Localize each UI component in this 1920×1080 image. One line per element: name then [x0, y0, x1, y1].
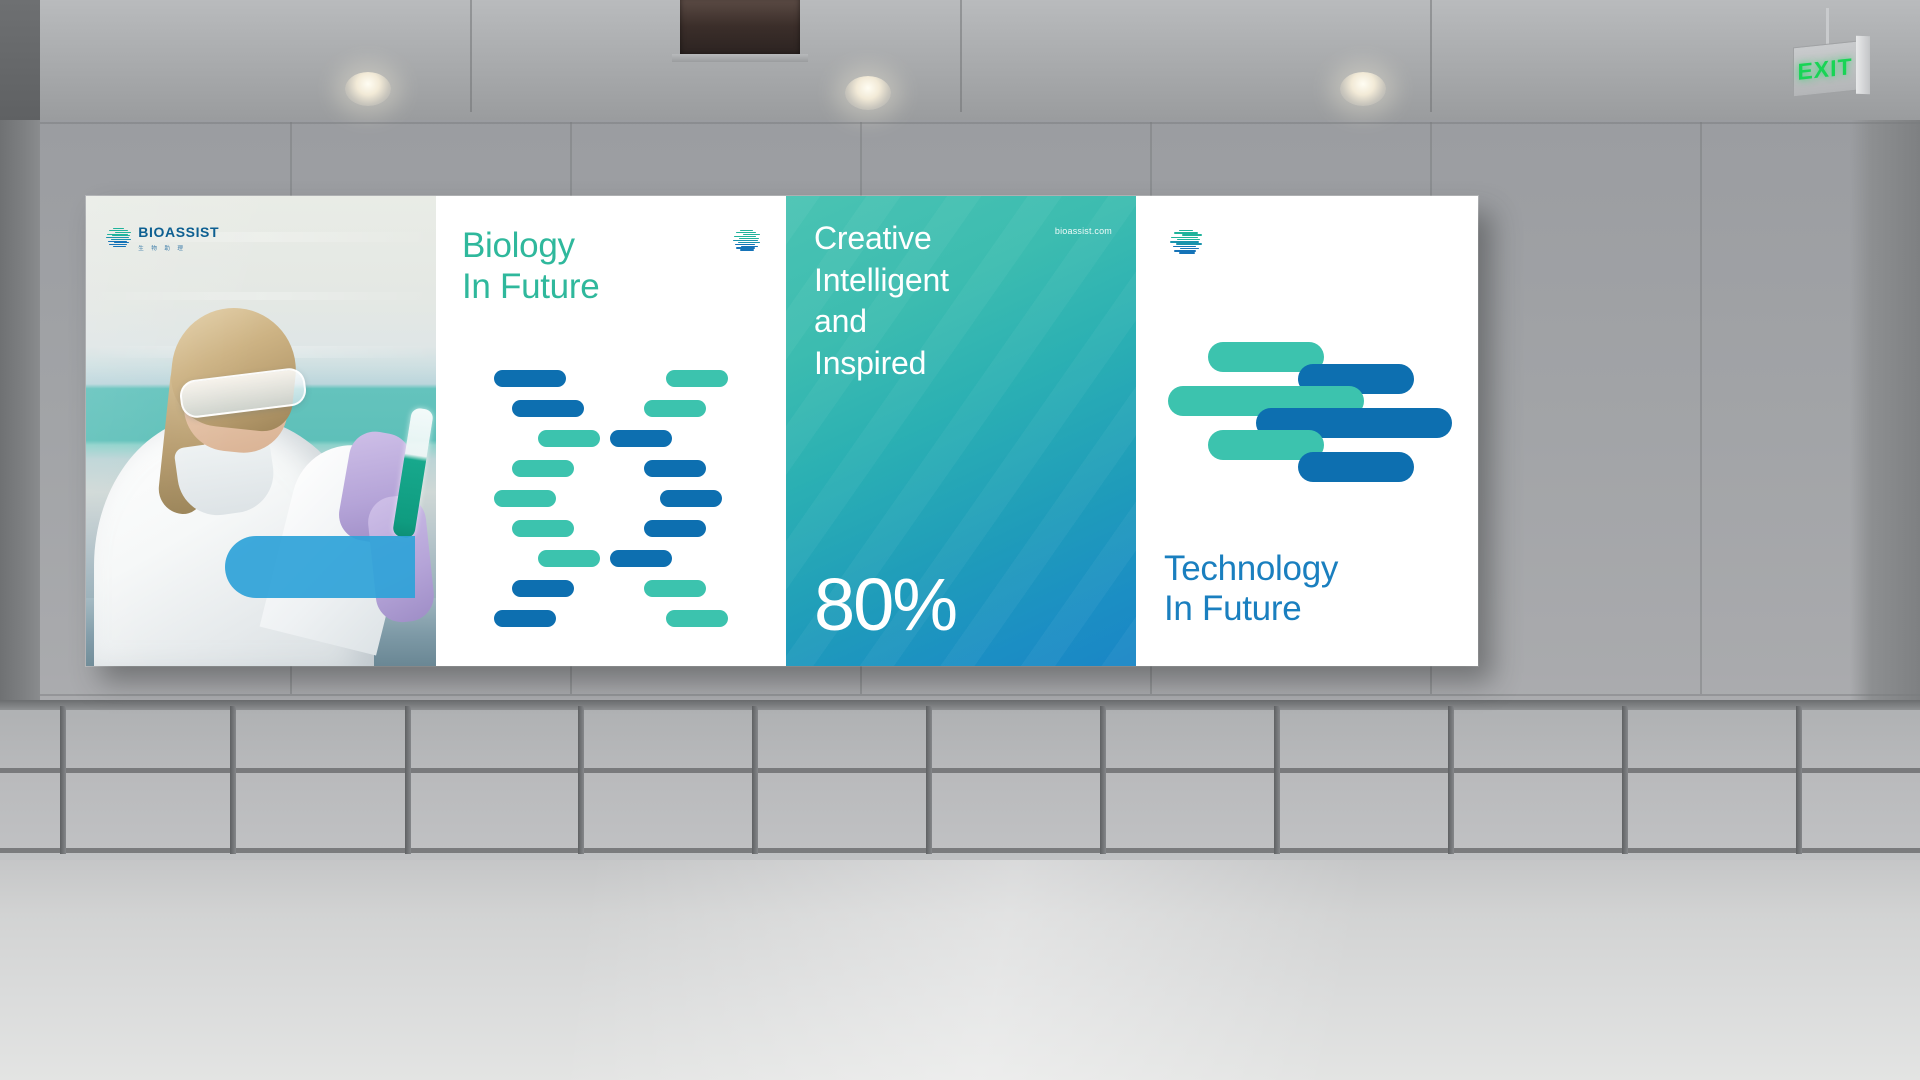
brand-name: BIOASSIST — [138, 224, 219, 240]
wall-panel-seam — [40, 694, 1920, 696]
dna-bar — [494, 370, 566, 387]
dna-bar — [512, 460, 574, 477]
panel-biology: Biology In Future — [436, 196, 786, 666]
bioassist-bars-mark-icon — [733, 230, 761, 251]
dna-bar — [538, 430, 600, 447]
railing-post — [1100, 706, 1106, 854]
brand-logo-text: BIOASSIST 生 物 助 理 — [138, 224, 219, 252]
ceiling-downlight — [845, 76, 891, 110]
exit-sign-label: EXIT — [1797, 53, 1852, 86]
panel-technology: Technology In Future — [1136, 196, 1478, 666]
creative-headline-line2: Intelligent — [814, 260, 949, 302]
ceiling-seam-vertical — [960, 0, 962, 112]
exit-sign: EXIT — [1793, 41, 1857, 98]
wall-panel-seam — [40, 122, 1920, 124]
railing-post — [926, 706, 932, 854]
railing-bar — [0, 768, 1920, 773]
railing-post — [752, 706, 758, 854]
dna-bar — [494, 610, 556, 627]
dna-ladder-graphic — [484, 370, 742, 642]
exit-sign-stem — [1826, 8, 1829, 48]
dna-bar — [644, 400, 706, 417]
railing-post — [1622, 706, 1628, 854]
dna-bar — [512, 520, 574, 537]
stat-percentage: 80% — [814, 568, 956, 642]
wall-panel-seam — [1700, 122, 1702, 694]
technology-headline-line1: Technology — [1164, 549, 1338, 590]
creative-headline-line4: Inspired — [814, 343, 949, 385]
railing-post — [230, 706, 236, 854]
brand-subtitle: 生 物 助 理 — [138, 244, 219, 252]
exit-sign-face: EXIT — [1793, 41, 1857, 98]
ceiling-vent-lip — [672, 54, 808, 62]
dna-bar — [512, 400, 584, 417]
railing-bar — [0, 848, 1920, 853]
railing-post — [578, 706, 584, 854]
panel-creative: Creative Intelligent and Inspired bioass… — [786, 196, 1136, 666]
dna-bar — [610, 550, 672, 567]
creative-headline: Creative Intelligent and Inspired — [814, 218, 949, 384]
tech-bar — [1298, 452, 1414, 482]
biology-headline: Biology In Future — [462, 226, 599, 307]
railing-top-rail — [0, 700, 1920, 710]
dna-bar — [644, 520, 706, 537]
dna-bar — [644, 580, 706, 597]
railing-post — [1274, 706, 1280, 854]
ceiling-downlight — [1340, 72, 1386, 106]
ceiling-seam-vertical — [1430, 0, 1432, 112]
dna-bar — [494, 490, 556, 507]
railing-post — [60, 706, 66, 854]
website-url[interactable]: bioassist.com — [1055, 226, 1112, 236]
floor-reflection — [0, 860, 1920, 1080]
creative-headline-line3: and — [814, 301, 949, 343]
creative-headline-line1: Creative — [814, 218, 949, 260]
blue-accent-pill — [225, 536, 415, 598]
dna-bar — [610, 430, 672, 447]
technology-headline-line2: In Future — [1164, 589, 1338, 630]
lobby-scene: EXIT — [0, 0, 1920, 1080]
dna-bar — [666, 370, 728, 387]
technology-headline: Technology In Future — [1164, 549, 1338, 630]
brand-logo: BIOASSIST 生 物 助 理 — [106, 224, 219, 252]
stacked-bars-graphic — [1154, 342, 1460, 462]
ceiling-air-vent — [680, 0, 800, 58]
dna-bar — [538, 550, 600, 567]
exit-sign-side — [1856, 36, 1870, 94]
photo-light-streak — [86, 292, 436, 300]
ceiling-left-edge — [0, 0, 40, 120]
dna-bar — [644, 460, 706, 477]
ceiling-seam-vertical — [470, 0, 472, 112]
dna-bar — [666, 610, 728, 627]
ceiling-downlight — [345, 72, 391, 106]
biology-headline-line1: Biology — [462, 226, 599, 267]
railing-post — [1796, 706, 1802, 854]
railing-post — [405, 706, 411, 854]
dna-bar — [660, 490, 722, 507]
bioassist-bars-mark-icon — [1170, 230, 1202, 255]
railing-post — [1448, 706, 1454, 854]
bioassist-bars-mark-icon — [106, 228, 131, 248]
biology-headline-line2: In Future — [462, 267, 599, 308]
dna-bar — [512, 580, 574, 597]
